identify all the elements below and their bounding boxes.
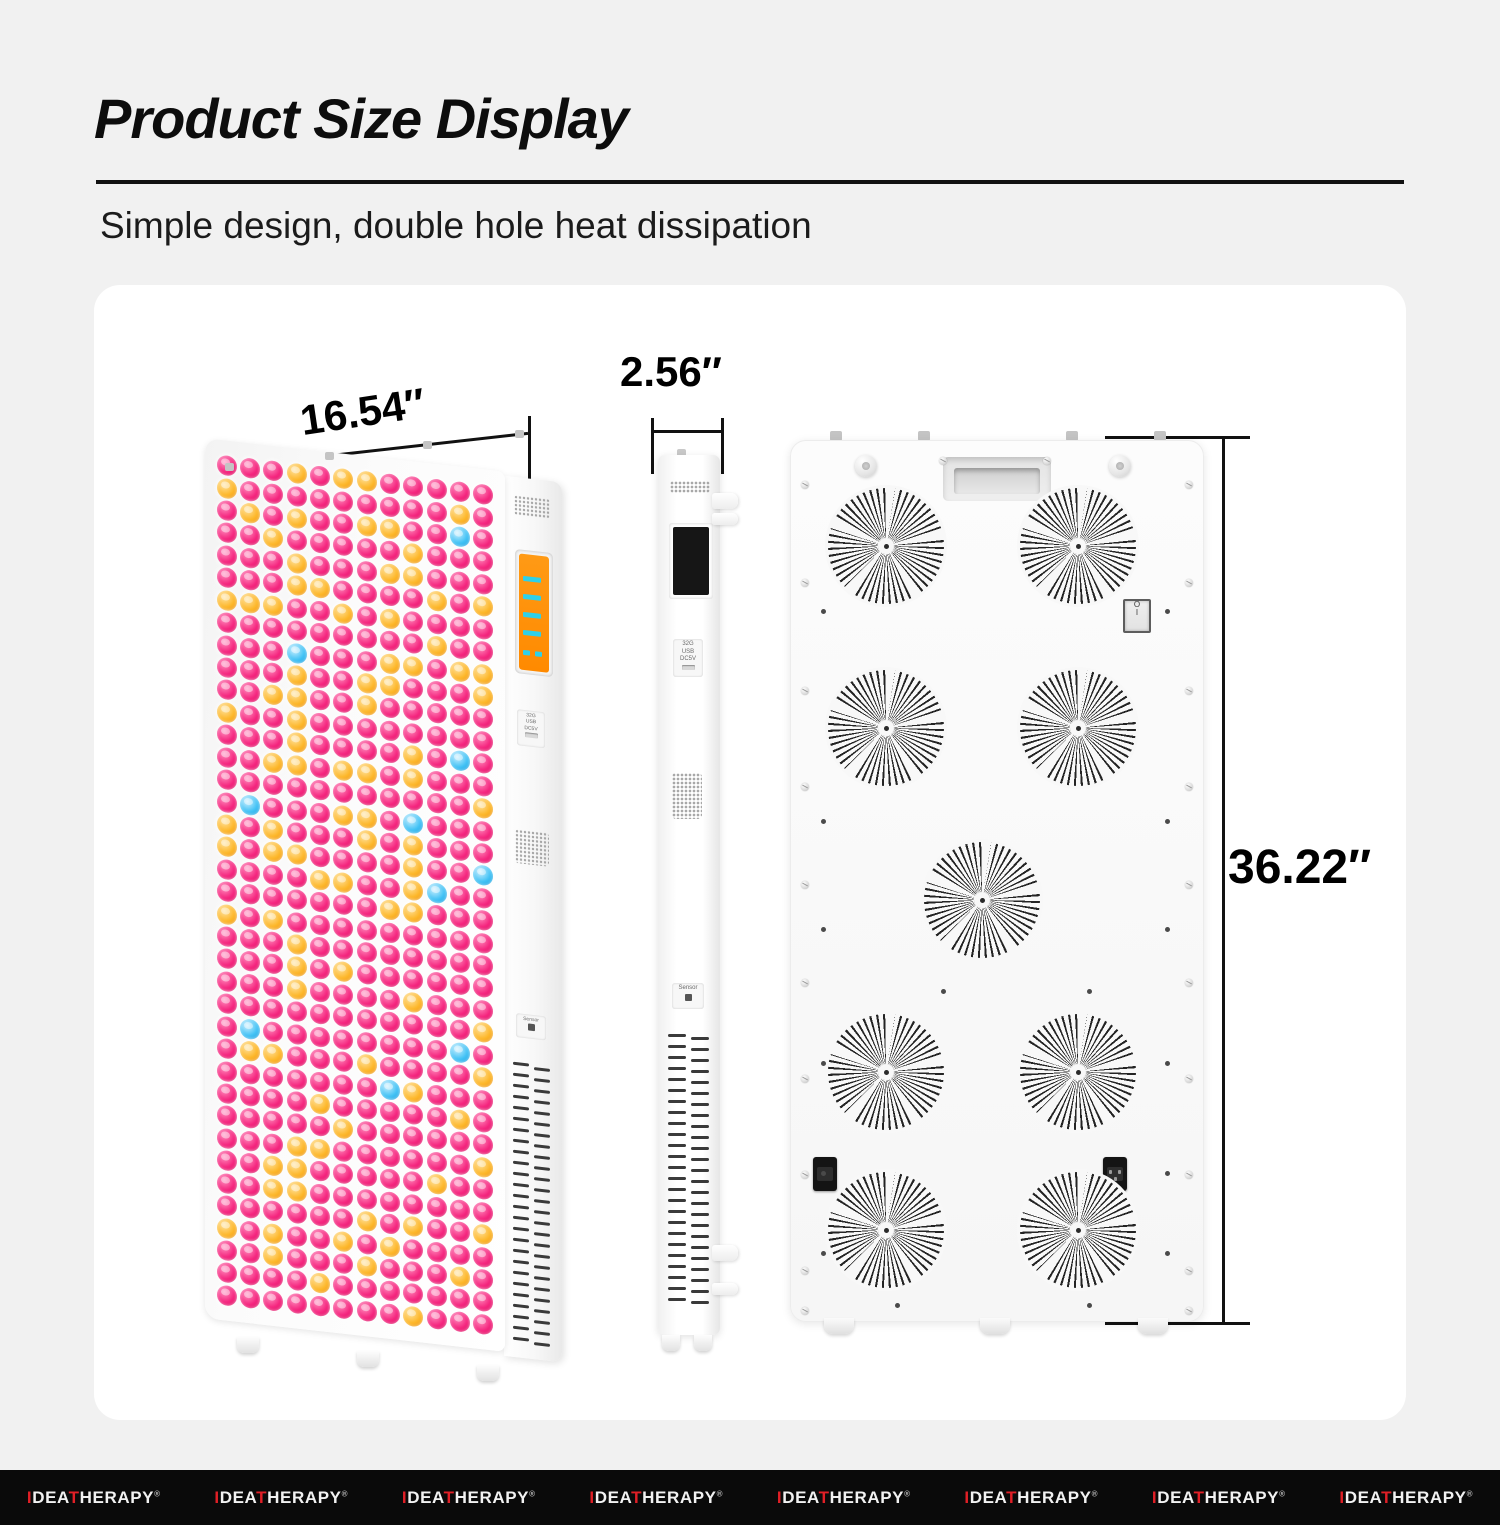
side-lcd-screen[interactable]: [669, 523, 713, 599]
led-dot: [357, 1278, 377, 1300]
led-dot: [403, 902, 423, 924]
brand-dea: DEA: [1157, 1488, 1193, 1507]
led-dot: [240, 928, 260, 950]
led-dot: [287, 1292, 307, 1314]
led-dot: [240, 525, 260, 547]
brand-logo: IDEATHERAPY®: [1125, 1488, 1313, 1508]
back-foot-mid: [980, 1318, 1010, 1334]
led-dot: [310, 555, 330, 577]
led-dot: [357, 919, 377, 941]
led-dot: [473, 865, 493, 887]
led-dot: [403, 588, 423, 610]
led-dot: [287, 1001, 307, 1023]
led-array: [215, 453, 495, 1336]
led-dot: [450, 1019, 470, 1041]
led-dot: [263, 1222, 283, 1244]
mount-dot: [1165, 927, 1170, 932]
led-dot: [473, 618, 493, 640]
led-dot: [473, 1022, 493, 1044]
led-dot: [403, 1036, 423, 1058]
led-dot: [357, 762, 377, 784]
led-dot: [403, 1171, 423, 1193]
side-usb-port-icon[interactable]: [682, 665, 695, 670]
led-dot: [333, 1253, 353, 1275]
led-dot: [263, 1043, 283, 1065]
mount-dot: [1165, 1061, 1170, 1066]
led-dot: [450, 1153, 470, 1175]
mount-dot: [895, 1303, 900, 1308]
mount-dot: [821, 1171, 826, 1176]
led-dot: [263, 527, 283, 549]
vent-slot: [513, 1116, 551, 1125]
led-dot: [287, 1023, 307, 1045]
led-dot: [450, 795, 470, 817]
led-dot: [240, 771, 260, 793]
led-dot: [287, 1158, 307, 1180]
brand-herapy: HERAPY: [642, 1488, 716, 1507]
handle-screw: [1043, 457, 1051, 465]
brand-dea: DEA: [782, 1488, 818, 1507]
carry-handle[interactable]: [943, 457, 1051, 501]
side-foot-right: [694, 1335, 712, 1351]
led-dot: [310, 891, 330, 913]
led-dot: [403, 1081, 423, 1103]
front-mount-hook-3: [423, 441, 432, 449]
led-dot: [287, 642, 307, 664]
vent-slot: [668, 1033, 710, 1038]
brand-dea: DEA: [407, 1488, 443, 1507]
led-dot: [473, 842, 493, 864]
led-dot: [357, 784, 377, 806]
brand-dea: DEA: [220, 1488, 256, 1507]
edge-screw: [801, 1075, 809, 1083]
led-dot: [310, 1295, 330, 1317]
dimension-height-label: 36.22″: [1228, 840, 1371, 895]
led-dot: [380, 675, 400, 697]
led-dot: [357, 1300, 377, 1322]
led-dot: [357, 627, 377, 649]
led-dot: [427, 1128, 447, 1150]
vent-slot: [668, 1110, 710, 1115]
led-dot: [427, 613, 447, 635]
led-dot: [310, 1071, 330, 1093]
vent-slot: [513, 1149, 551, 1158]
fan-grille-icon: [1019, 487, 1137, 605]
led-dot: [427, 545, 447, 567]
led-dot: [333, 692, 353, 714]
led-dot: [380, 608, 400, 630]
led-dot: [403, 1014, 423, 1036]
sensor-label-text: Sensor: [523, 1016, 539, 1024]
led-dot: [403, 700, 423, 722]
led-dot: [427, 837, 447, 859]
led-dot: [287, 1202, 307, 1224]
led-dot: [427, 1285, 447, 1307]
fan-grille-icon: [827, 1013, 945, 1131]
side-usb-line-2: USB: [682, 649, 694, 655]
led-dot: [380, 809, 400, 831]
led-dot: [287, 821, 307, 843]
vent-slot: [668, 1209, 710, 1214]
edge-screw: [1185, 979, 1193, 987]
back-panel-view: O I: [790, 440, 1210, 1355]
led-dot: [380, 1123, 400, 1145]
led-dot: [403, 946, 423, 968]
led-dot: [240, 614, 260, 636]
led-dot: [403, 857, 423, 879]
led-dot: [427, 1218, 447, 1240]
led-dot: [427, 702, 447, 724]
led-dot: [427, 904, 447, 926]
brand-herapy: HERAPY: [1205, 1488, 1279, 1507]
edge-screw: [1185, 579, 1193, 587]
led-dot: [217, 769, 237, 791]
vent-slot: [513, 1336, 551, 1345]
led-dot: [263, 1245, 283, 1267]
led-dot: [310, 869, 330, 891]
led-dot: [333, 939, 353, 961]
edge-screw: [801, 979, 809, 987]
led-dot: [287, 1247, 307, 1269]
brand-herapy: HERAPY: [455, 1488, 529, 1507]
brand-logo: IDEATHERAPY®: [1313, 1488, 1500, 1508]
led-dot: [380, 630, 400, 652]
led-dot: [287, 889, 307, 911]
led-dot: [240, 569, 260, 591]
led-dot: [333, 535, 353, 557]
led-dot: [240, 995, 260, 1017]
led-dot: [240, 726, 260, 748]
mount-dot: [821, 927, 826, 932]
led-dot: [450, 1310, 470, 1332]
led-dot: [380, 854, 400, 876]
led-dot: [427, 725, 447, 747]
led-dot: [357, 672, 377, 694]
led-dot: [287, 911, 307, 933]
led-dot: [287, 507, 307, 529]
led-dot: [427, 770, 447, 792]
led-dot: [310, 532, 330, 554]
led-dot: [380, 473, 400, 495]
edge-screw: [801, 687, 809, 695]
vent-slot: [668, 1132, 710, 1137]
led-dot: [403, 655, 423, 677]
led-dot: [240, 704, 260, 726]
led-dot: [287, 1068, 307, 1090]
led-dot: [450, 660, 470, 682]
led-dot: [240, 794, 260, 816]
vent-slot: [513, 1171, 551, 1180]
led-dot: [263, 1290, 283, 1312]
edge-screw: [801, 1307, 809, 1315]
led-dot: [333, 1028, 353, 1050]
control-lcd-display[interactable]: [515, 549, 553, 677]
led-dot: [450, 862, 470, 884]
led-dot: [287, 709, 307, 731]
led-dot: [333, 557, 353, 579]
led-dot: [380, 1034, 400, 1056]
led-dot: [333, 580, 353, 602]
led-dot: [357, 1008, 377, 1030]
led-dot: [357, 852, 377, 874]
led-dot: [287, 956, 307, 978]
led-dot: [450, 1176, 470, 1198]
brand-t: T: [1006, 1488, 1017, 1507]
led-dot: [473, 1044, 493, 1066]
led-dot: [310, 1138, 330, 1160]
fan-grille-icon: [827, 487, 945, 605]
vent-slot: [668, 1044, 710, 1049]
led-dot: [217, 612, 237, 634]
vent-slot: [668, 1297, 710, 1302]
led-dot: [217, 926, 237, 948]
led-dot: [427, 1196, 447, 1218]
led-dot: [403, 1126, 423, 1148]
led-dot: [403, 1193, 423, 1215]
vent-slot: [513, 1292, 551, 1301]
led-dot: [473, 1313, 493, 1335]
led-dot: [427, 1039, 447, 1061]
page-title: Product Size Display: [94, 86, 628, 151]
led-dot: [263, 998, 283, 1020]
led-dot: [427, 949, 447, 971]
led-dot: [217, 701, 237, 723]
led-dot: [473, 954, 493, 976]
led-dot: [263, 729, 283, 751]
led-dot: [380, 720, 400, 742]
led-dot: [240, 502, 260, 524]
led-dot: [403, 476, 423, 498]
led-dot: [263, 908, 283, 930]
handle-screw: [939, 457, 947, 465]
led-dot: [357, 560, 377, 582]
led-dot: [403, 969, 423, 991]
led-dot: [450, 683, 470, 705]
mount-dot: [1087, 989, 1092, 994]
led-dot: [357, 493, 377, 515]
brand-t: T: [1194, 1488, 1205, 1507]
led-dot: [310, 1183, 330, 1205]
led-dot: [287, 575, 307, 597]
led-dot: [310, 914, 330, 936]
led-dot: [427, 927, 447, 949]
led-dot: [217, 1082, 237, 1104]
brand-t: T: [819, 1488, 830, 1507]
vent-slot: [668, 1187, 710, 1192]
led-dot: [403, 834, 423, 856]
led-dot: [403, 1238, 423, 1260]
power-switch[interactable]: O I: [1123, 599, 1151, 633]
led-dot: [380, 764, 400, 786]
led-dot: [333, 849, 353, 871]
led-dot: [403, 767, 423, 789]
vent-slot: [668, 1077, 710, 1082]
side-sensor-text: Sensor: [678, 985, 697, 991]
led-dot: [333, 647, 353, 669]
brand-t: T: [444, 1488, 455, 1507]
led-dot: [310, 1003, 330, 1025]
led-dot: [450, 1288, 470, 1310]
led-dot: [380, 1213, 400, 1235]
led-dot: [450, 1109, 470, 1131]
led-dot: [357, 650, 377, 672]
usb-port-icon[interactable]: [525, 732, 538, 738]
led-dot: [287, 754, 307, 776]
led-dot: [427, 747, 447, 769]
led-dot: [380, 1235, 400, 1257]
led-dot: [217, 679, 237, 701]
led-dot: [427, 792, 447, 814]
led-dot: [287, 799, 307, 821]
led-dot: [357, 1210, 377, 1232]
led-dot: [473, 887, 493, 909]
led-dot: [310, 779, 330, 801]
led-dot: [380, 1146, 400, 1168]
led-dot: [403, 1260, 423, 1282]
led-dot: [240, 1220, 260, 1242]
led-dot: [333, 602, 353, 624]
led-dot: [450, 481, 470, 503]
led-dot: [450, 615, 470, 637]
led-dot: [473, 551, 493, 573]
dimension-depth-label: 2.56″: [620, 348, 722, 396]
brand-herapy: HERAPY: [830, 1488, 904, 1507]
brand-logo: IDEATHERAPY®: [938, 1488, 1126, 1508]
vent-slot: [668, 1121, 710, 1126]
fan-grille-icon: [1019, 1171, 1137, 1289]
side-usb-label: 32G USB DC5V: [673, 639, 703, 677]
led-dot: [287, 776, 307, 798]
led-dot: [263, 594, 283, 616]
led-dot: [263, 953, 283, 975]
front-mount-hook-4: [515, 430, 524, 438]
vent-slot: [668, 1286, 710, 1291]
led-dot: [450, 705, 470, 727]
switch-on-symbol: I: [1136, 608, 1138, 617]
side-sensor-icon: [685, 994, 692, 1001]
vent-slot: [668, 1264, 710, 1269]
led-dot: [287, 1180, 307, 1202]
led-dot: [380, 518, 400, 540]
led-dot: [287, 619, 307, 641]
led-dot: [450, 1243, 470, 1265]
led-dot: [263, 617, 283, 639]
led-dot: [403, 498, 423, 520]
front-led-panel: 32G USB DC5V Sensor: [205, 455, 565, 1355]
led-dot: [450, 638, 470, 660]
edge-screw: [801, 1171, 809, 1179]
led-dot: [217, 1127, 237, 1149]
led-dot: [240, 1108, 260, 1130]
vent-slot: [513, 1072, 551, 1081]
vent-slot: [668, 1176, 710, 1181]
led-dot: [217, 948, 237, 970]
led-dot: [473, 753, 493, 775]
vent-slot: [668, 1066, 710, 1071]
vent-slot: [513, 1237, 551, 1246]
led-dot: [287, 1113, 307, 1135]
led-dot: [217, 1038, 237, 1060]
vent-slot: [513, 1160, 551, 1169]
led-dot: [263, 482, 283, 504]
led-dot: [403, 677, 423, 699]
led-dot: [333, 961, 353, 983]
front-foot-left: [237, 1337, 259, 1353]
led-dot: [357, 1255, 377, 1277]
led-dot: [427, 1173, 447, 1195]
led-dot: [380, 697, 400, 719]
led-dot: [287, 597, 307, 619]
led-dot: [240, 457, 260, 479]
side-connector-bottom: [712, 1245, 738, 1261]
led-dot: [357, 695, 377, 717]
led-dot: [333, 894, 353, 916]
usb-label-line-3: DC5V: [524, 725, 537, 732]
led-dot: [333, 916, 353, 938]
led-dot: [287, 1270, 307, 1292]
led-dot: [333, 871, 353, 893]
led-dot: [333, 827, 353, 849]
led-dot: [240, 838, 260, 860]
led-dot: [403, 520, 423, 542]
led-dot: [403, 924, 423, 946]
led-dot: [357, 1076, 377, 1098]
led-dot: [310, 1272, 330, 1294]
led-dot: [357, 1233, 377, 1255]
led-dot: [333, 1006, 353, 1028]
mount-dot: [821, 1061, 826, 1066]
led-dot: [427, 1016, 447, 1038]
led-dot: [357, 1143, 377, 1165]
led-dot: [380, 1303, 400, 1325]
led-dot: [287, 485, 307, 507]
led-dot: [473, 573, 493, 595]
side-connector-top-2: [712, 513, 738, 525]
led-dot: [263, 639, 283, 661]
led-dot: [403, 1059, 423, 1081]
led-dot: [403, 1103, 423, 1125]
vent-slot: [513, 1193, 551, 1202]
mount-dot: [1087, 1303, 1092, 1308]
led-dot: [240, 682, 260, 704]
front-mount-hook-1: [225, 463, 234, 471]
led-dot: [310, 712, 330, 734]
mount-dot: [1165, 819, 1170, 824]
led-dot: [240, 637, 260, 659]
led-dot: [240, 749, 260, 771]
led-dot: [450, 929, 470, 951]
brand-registered-mark: ®: [529, 1489, 536, 1498]
led-dot: [450, 1221, 470, 1243]
side-sensor-label: Sensor: [672, 983, 704, 1009]
led-dot: [473, 1179, 493, 1201]
led-dot: [473, 1246, 493, 1268]
led-dot: [427, 658, 447, 680]
vent-slot: [513, 1314, 551, 1323]
led-dot: [403, 812, 423, 834]
led-dot: [310, 846, 330, 868]
edge-screw: [801, 1267, 809, 1275]
side-usb-line-3: DC5V: [680, 656, 696, 662]
led-dot: [333, 1051, 353, 1073]
led-dot: [450, 772, 470, 794]
led-dot: [310, 981, 330, 1003]
front-mount-hook-2: [325, 452, 334, 460]
led-dot: [310, 1227, 330, 1249]
led-dot: [217, 634, 237, 656]
vent-slot: [513, 1215, 551, 1224]
led-dot: [333, 1140, 353, 1162]
